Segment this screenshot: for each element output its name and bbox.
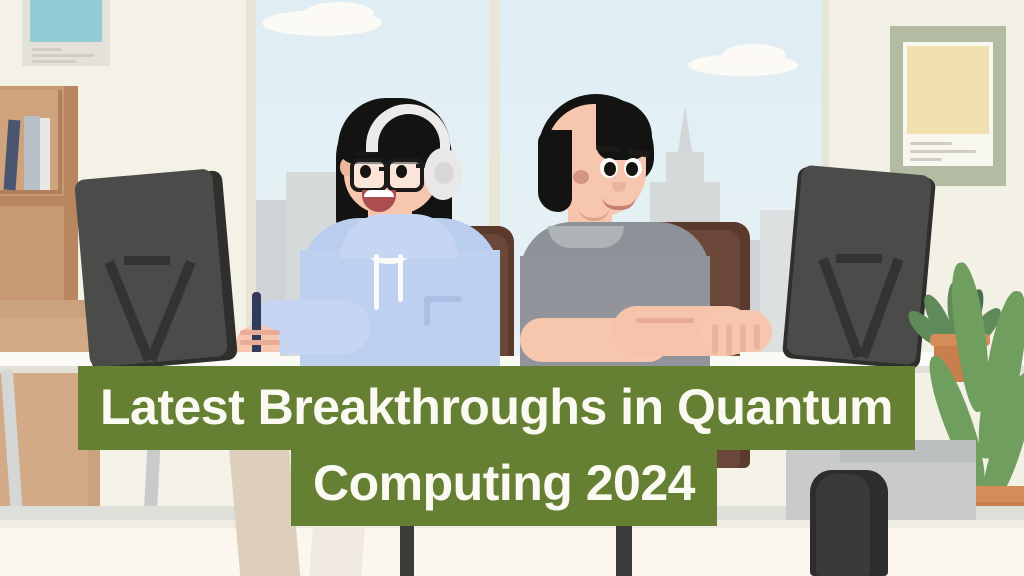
headline-line-1: Latest Breakthroughs in Quantum <box>78 366 915 450</box>
illustration-banner: Latest Breakthroughs in Quantum Computin… <box>0 0 1024 576</box>
headline-line-2: Computing 2024 <box>291 444 717 526</box>
headline-overlay: Latest Breakthroughs in Quantum Computin… <box>0 0 1024 576</box>
